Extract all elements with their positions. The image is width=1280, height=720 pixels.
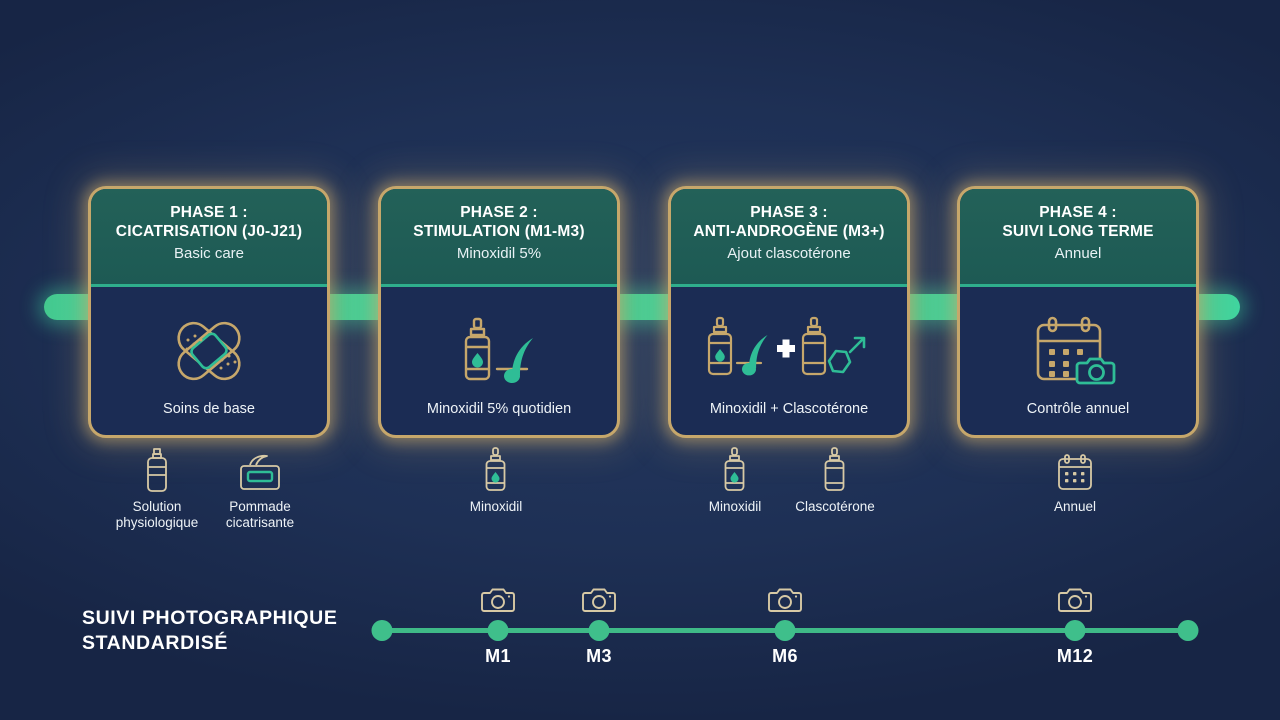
phase-card-3-title-line2: ANTI-ANDROGÈNE (M3+) <box>681 222 897 241</box>
timeline-title: SUIVI PHOTOGRAPHIQUE STANDARDISÉ <box>82 606 337 656</box>
dropper-bottle-hair-follicle-icon <box>449 301 549 401</box>
phase-card-3-subtitle: Ajout clascotérone <box>681 243 897 265</box>
timeline-node-m1[interactable] <box>488 620 509 641</box>
camera-icon <box>582 586 616 619</box>
phase-card-4-title-line1: PHASE 4 : <box>970 203 1186 222</box>
subitem-label-line1: Solution <box>97 499 217 515</box>
camera-icon <box>1058 586 1092 619</box>
ointment-jar-icon <box>200 449 320 493</box>
phase-card-4[interactable]: PHASE 4 : SUIVI LONG TERME Annuel <box>957 186 1199 438</box>
dropper-bottle-filled-icon <box>436 449 556 493</box>
phase-card-4-caption: Contrôle annuel <box>1027 401 1129 418</box>
subitem-annuel[interactable]: Annuel <box>1015 449 1135 515</box>
phase-card-4-header: PHASE 4 : SUIVI LONG TERME Annuel <box>960 189 1196 287</box>
phase-card-2[interactable]: PHASE 2 : STIMULATION (M1-M3) Minoxidil … <box>378 186 620 438</box>
phase-card-1-header: PHASE 1 : CICATRISATION (J0-J21) Basic c… <box>91 189 327 287</box>
phase-card-3-caption: Minoxidil + Clascotérone <box>710 401 868 418</box>
subitem-label-line1: Annuel <box>1015 499 1135 515</box>
timeline-node-m12[interactable] <box>1065 620 1086 641</box>
timeline-node-end <box>1178 620 1199 641</box>
phase-card-2-subtitle: Minoxidil 5% <box>391 243 607 265</box>
bandage-icon <box>166 301 252 401</box>
timeline-title-line1: SUIVI PHOTOGRAPHIQUE <box>82 606 337 631</box>
subitem-pommade-cicatrisante[interactable]: Pommade cicatrisante <box>200 449 320 531</box>
phase-card-3[interactable]: PHASE 3 : ANTI-ANDROGÈNE (M3+) Ajout cla… <box>668 186 910 438</box>
subitem-label-line2: cicatrisante <box>200 515 320 531</box>
timeline-node-m6[interactable] <box>775 620 796 641</box>
timeline-label-m12: M12 <box>1057 646 1093 667</box>
phase-card-1-title-line1: PHASE 1 : <box>101 203 317 222</box>
subitem-label-line1: Minoxidil <box>436 499 556 515</box>
dropper-bottle-empty-icon <box>775 449 895 493</box>
phase-card-1-body: Soins de base <box>91 287 327 432</box>
camera-icon <box>768 586 802 619</box>
timeline-title-line2: STANDARDISÉ <box>82 631 337 656</box>
subitem-label-line2: physiologique <box>97 515 217 531</box>
phase-card-3-title-line1: PHASE 3 : <box>681 203 897 222</box>
subitem-label-line1: Pommade <box>200 499 320 515</box>
phase-card-1-subtitle: Basic care <box>101 243 317 265</box>
photo-followup-timeline: M1 M3 M6 <box>370 580 1200 680</box>
camera-icon <box>481 586 515 619</box>
infographic-canvas: PHASE 1 : CICATRISATION (J0-J21) Basic c… <box>0 0 1280 720</box>
subitem-minoxidil-phase2[interactable]: Minoxidil <box>436 449 556 515</box>
phase-card-1[interactable]: PHASE 1 : CICATRISATION (J0-J21) Basic c… <box>88 186 330 438</box>
phase-card-3-header: PHASE 3 : ANTI-ANDROGÈNE (M3+) Ajout cla… <box>671 189 907 287</box>
calendar-icon <box>1015 449 1135 493</box>
subitem-label-line1: Clascotérone <box>775 499 895 515</box>
phase-card-2-caption: Minoxidil 5% quotidien <box>427 401 571 418</box>
phase-card-4-body: Contrôle annuel <box>960 287 1196 432</box>
phase-card-2-title-line2: STIMULATION (M1-M3) <box>391 222 607 241</box>
timeline-label-m3: M3 <box>586 646 612 667</box>
calendar-camera-icon <box>1030 301 1126 401</box>
phase-card-4-subtitle: Annuel <box>970 243 1186 265</box>
phase-card-2-title-line1: PHASE 2 : <box>391 203 607 222</box>
subitem-clascoterone[interactable]: Clascotérone <box>775 449 895 515</box>
phase-card-3-body: Minoxidil + Clascotérone <box>671 287 907 432</box>
timeline-node-start <box>372 620 393 641</box>
phase-card-2-header: PHASE 2 : STIMULATION (M1-M3) Minoxidil … <box>381 189 617 287</box>
dropper-bottle-plus-androgen-icon <box>701 301 877 401</box>
timeline-label-m6: M6 <box>772 646 798 667</box>
phase-card-2-body: Minoxidil 5% quotidien <box>381 287 617 432</box>
timeline-label-m1: M1 <box>485 646 511 667</box>
phase-card-4-title-line2: SUIVI LONG TERME <box>970 222 1186 241</box>
phase-card-1-title-line2: CICATRISATION (J0-J21) <box>101 222 317 241</box>
phase-card-1-caption: Soins de base <box>163 401 255 418</box>
subitem-solution-physiologique[interactable]: Solution physiologique <box>97 449 217 531</box>
timeline-node-m3[interactable] <box>589 620 610 641</box>
water-bottle-icon <box>97 449 217 493</box>
